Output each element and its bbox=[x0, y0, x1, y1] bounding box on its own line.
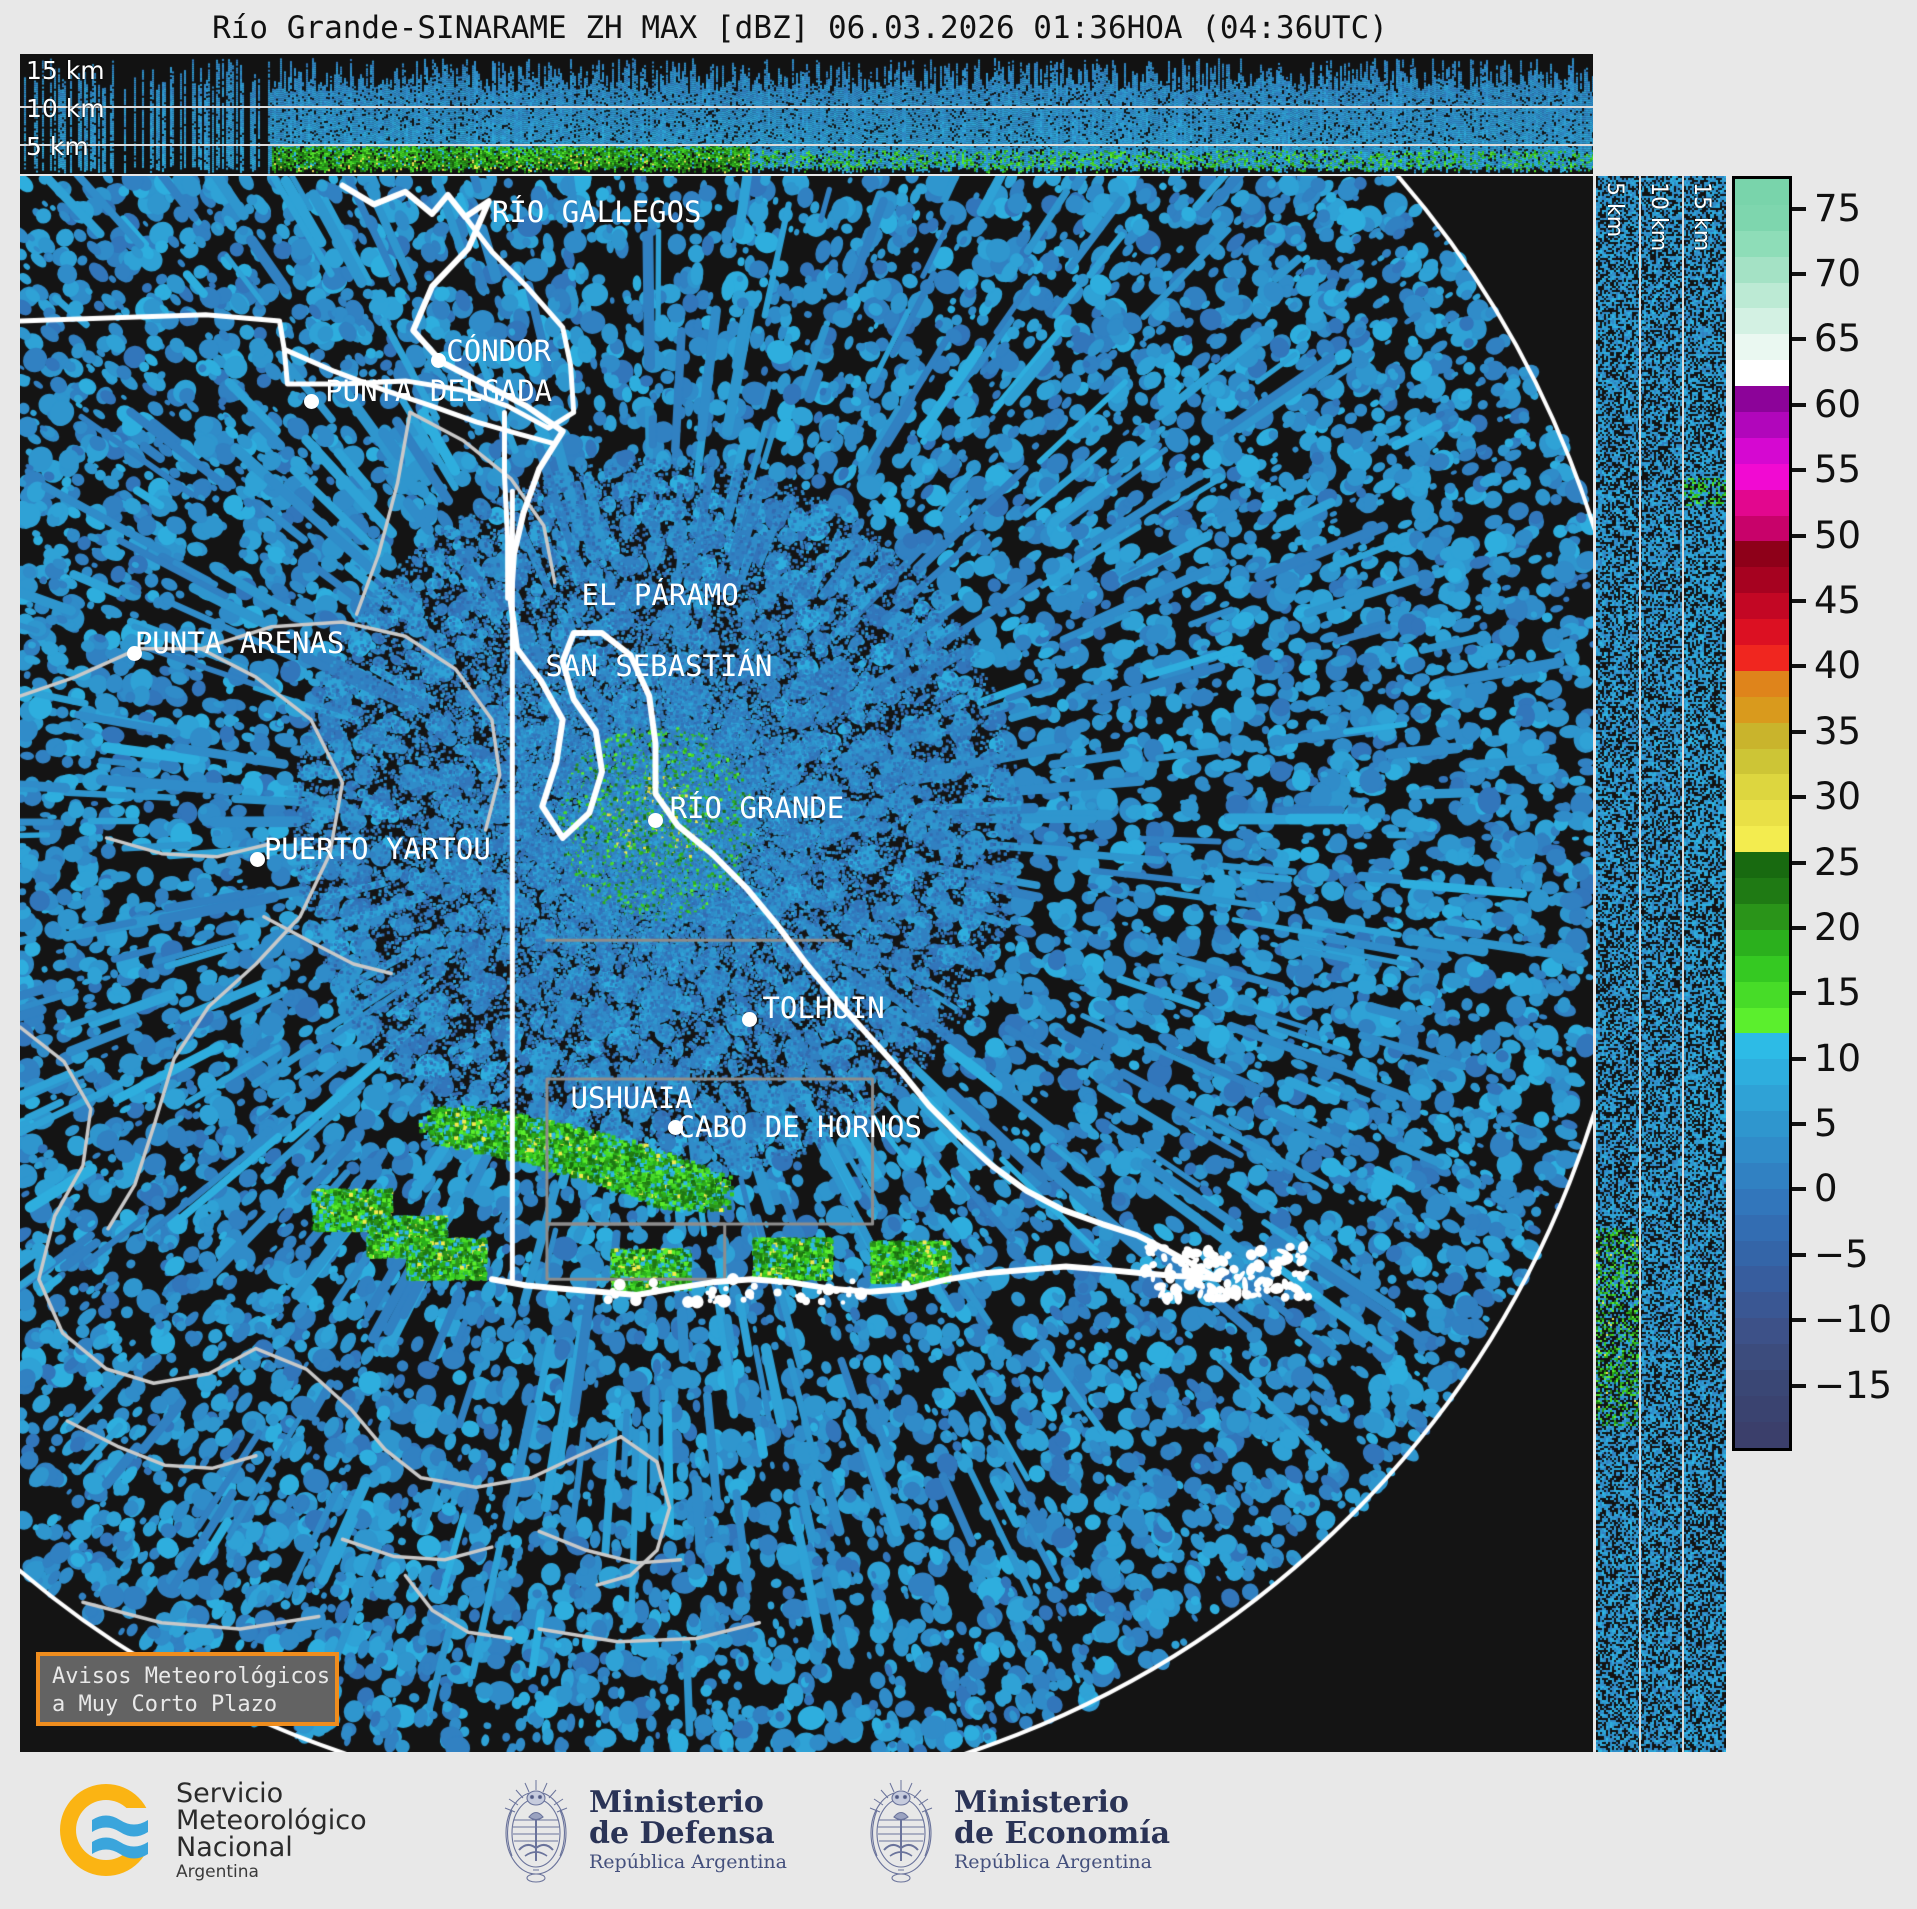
colorbar-band bbox=[1735, 956, 1789, 982]
side-height-label-10km: 10 km bbox=[1646, 182, 1671, 251]
city-label-el-p-ramo: EL PÁRAMO bbox=[582, 579, 739, 611]
colorbar-band bbox=[1735, 1008, 1789, 1034]
colorbar-tick-label: 75 bbox=[1814, 188, 1861, 230]
colorbar-band bbox=[1735, 1422, 1789, 1448]
colorbar-tick-mark bbox=[1792, 599, 1806, 603]
colorbar-tick-label: 70 bbox=[1814, 253, 1861, 295]
radar-reflectivity-canvas[interactable] bbox=[20, 176, 1593, 1752]
height-label-5km: 5 km bbox=[26, 134, 89, 159]
colorbar-band bbox=[1735, 1033, 1789, 1059]
colorbar-tick-label: −10 bbox=[1814, 1299, 1892, 1341]
city-label-c-ndor: CÓNDOR bbox=[446, 335, 551, 367]
colorbar-band bbox=[1735, 982, 1789, 1008]
colorbar-band bbox=[1735, 283, 1789, 309]
colorbar-band bbox=[1735, 179, 1789, 205]
colorbar-band bbox=[1735, 645, 1789, 671]
colorbar-tick-label: 65 bbox=[1814, 318, 1861, 360]
city-label-r-o-gallegos: RÍO GALLEGOS bbox=[492, 196, 702, 228]
colorbar-band bbox=[1735, 697, 1789, 723]
colorbar-tick-label: 10 bbox=[1814, 1038, 1861, 1080]
colorbar-band bbox=[1735, 205, 1789, 231]
warning-line-2: a Muy Corto Plazo bbox=[52, 1691, 335, 1719]
colorbar-band bbox=[1735, 412, 1789, 438]
colorbar-band bbox=[1735, 1241, 1789, 1267]
city-label-punta-delgada: PUNTA DELGADA bbox=[325, 375, 552, 407]
colorbar-band bbox=[1735, 1085, 1789, 1111]
colorbar-band bbox=[1735, 1266, 1789, 1292]
defensa-line-2: de Defensa bbox=[589, 1818, 787, 1849]
economia-line-3: República Argentina bbox=[954, 1853, 1170, 1873]
height-label-15km: 15 km bbox=[26, 58, 105, 83]
colorbar-tick-mark bbox=[1792, 1384, 1806, 1388]
colorbar-tick-mark bbox=[1792, 926, 1806, 930]
warning-line-1: Avisos Meteorológicos bbox=[52, 1663, 335, 1691]
colorbar-tick-label: 60 bbox=[1814, 384, 1861, 426]
colorbar-band bbox=[1735, 541, 1789, 567]
colorbar-band bbox=[1735, 826, 1789, 852]
colorbar-tick-mark bbox=[1792, 1122, 1806, 1126]
height-gridline-5km bbox=[20, 144, 1593, 146]
argentina-coat-of-arms-icon bbox=[860, 1770, 942, 1890]
city-label-punta-arenas: PUNTA ARENAS bbox=[135, 627, 345, 659]
range-gridline-b bbox=[1682, 176, 1684, 1752]
height-label-10km: 10 km bbox=[26, 96, 105, 121]
colorbar-tick-label: 5 bbox=[1814, 1103, 1838, 1145]
range-gridline-a bbox=[1639, 176, 1641, 1752]
side-cross-section-panel: 5 km 10 km 15 km bbox=[1596, 176, 1726, 1752]
colorbar-tick-mark bbox=[1792, 272, 1806, 276]
colorbar-band bbox=[1735, 1396, 1789, 1422]
colorbar-band bbox=[1735, 1111, 1789, 1137]
colorbar-tick-label: 15 bbox=[1814, 972, 1861, 1014]
colorbar-tick-labels: −15−10−5051015202530354045505560657075 bbox=[1792, 176, 1912, 1451]
top-cross-section-panel: 15 km 10 km 5 km bbox=[20, 54, 1593, 174]
colorbar-band bbox=[1735, 231, 1789, 257]
smn-line-3: Nacional bbox=[176, 1834, 367, 1861]
logo-servicio-meteorologico-nacional: Servicio Meteorológico Nacional Argentin… bbox=[50, 1774, 367, 1886]
argentina-coat-of-arms-icon bbox=[495, 1770, 577, 1890]
colorbar-band bbox=[1735, 749, 1789, 775]
colorbar-band bbox=[1735, 1163, 1789, 1189]
colorbar-band bbox=[1735, 671, 1789, 697]
colorbar-band bbox=[1735, 723, 1789, 749]
colorbar-tick-mark bbox=[1792, 1187, 1806, 1191]
city-label-san-sebasti-n: SAN SEBASTIÁN bbox=[545, 650, 772, 682]
smn-line-1: Servicio bbox=[176, 1780, 367, 1807]
city-label-cabo-de-hornos: CABO DE HORNOS bbox=[678, 1111, 922, 1143]
colorbar-band bbox=[1735, 567, 1789, 593]
colorbar-band bbox=[1735, 1318, 1789, 1344]
colorbar-tick-label: −15 bbox=[1814, 1365, 1892, 1407]
footer-logos: Servicio Meteorológico Nacional Argentin… bbox=[0, 1760, 1917, 1909]
colorbar-tick-mark bbox=[1792, 664, 1806, 668]
side-cross-section-canvas bbox=[1596, 176, 1726, 1752]
smn-line-2: Meteorológico bbox=[176, 1807, 367, 1834]
colorbar-band bbox=[1735, 1137, 1789, 1163]
colorbar-tick-label: 50 bbox=[1814, 515, 1861, 557]
colorbar-band bbox=[1735, 308, 1789, 334]
colorbar-tick-label: 35 bbox=[1814, 711, 1861, 753]
colorbar-tick-mark bbox=[1792, 207, 1806, 211]
colorbar-tick-mark bbox=[1792, 991, 1806, 995]
city-marker-dot[interactable] bbox=[742, 1012, 757, 1027]
city-marker-dot[interactable] bbox=[304, 394, 319, 409]
colorbar-band bbox=[1735, 1370, 1789, 1396]
colorbar-tick-mark bbox=[1792, 337, 1806, 341]
defensa-line-3: República Argentina bbox=[589, 1853, 787, 1873]
colorbar-tick-label: 20 bbox=[1814, 907, 1861, 949]
smn-emblem-icon bbox=[50, 1774, 162, 1886]
colorbar-tick-label: 55 bbox=[1814, 449, 1861, 491]
colorbar-tick-mark bbox=[1792, 468, 1806, 472]
city-label-r-o-grande: RÍO GRANDE bbox=[670, 792, 845, 824]
city-label-ushuaia: USHUAIA bbox=[571, 1082, 693, 1114]
defensa-line-1: Ministerio bbox=[589, 1787, 787, 1818]
colorbar-band bbox=[1735, 619, 1789, 645]
colorbar-tick-label: 0 bbox=[1814, 1168, 1838, 1210]
height-gridline-10km bbox=[20, 106, 1593, 108]
colorbar-band bbox=[1735, 878, 1789, 904]
city-label-tolhuin: TOLHUIN bbox=[762, 992, 884, 1024]
city-label-puerto-yartou: PUERTO YARTOU bbox=[264, 833, 491, 865]
colorbar-tick-mark bbox=[1792, 1057, 1806, 1061]
colorbar-band bbox=[1735, 334, 1789, 360]
radar-ppi-map[interactable]: RÍO GALLEGOSCÓNDORPUNTA DELGADAEL PÁRAMO… bbox=[20, 176, 1593, 1752]
colorbar-band bbox=[1735, 464, 1789, 490]
colorbar-tick-label: 40 bbox=[1814, 645, 1861, 687]
colorbar-gradient bbox=[1732, 176, 1792, 1451]
colorbar-tick-label: 25 bbox=[1814, 842, 1861, 884]
colorbar-tick-mark bbox=[1792, 861, 1806, 865]
logo-ministerio-de-economia: Ministerio de Economía República Argenti… bbox=[860, 1770, 1170, 1890]
smn-line-4: Argentina bbox=[176, 1864, 367, 1881]
city-marker-dot[interactable] bbox=[648, 813, 663, 828]
side-height-label-15km: 15 km bbox=[1689, 182, 1714, 251]
city-marker-dot[interactable] bbox=[431, 353, 446, 368]
colorbar-tick-mark bbox=[1792, 1253, 1806, 1257]
colorbar-band bbox=[1735, 1344, 1789, 1370]
colorbar-tick-label: 45 bbox=[1814, 580, 1861, 622]
colorbar-band bbox=[1735, 593, 1789, 619]
colorbar-band bbox=[1735, 490, 1789, 516]
colorbar bbox=[1732, 176, 1792, 1451]
economia-line-1: Ministerio bbox=[954, 1787, 1170, 1818]
colorbar-band bbox=[1735, 1059, 1789, 1085]
colorbar-band bbox=[1735, 800, 1789, 826]
colorbar-band bbox=[1735, 1189, 1789, 1215]
colorbar-tick-mark bbox=[1792, 795, 1806, 799]
colorbar-tick-mark bbox=[1792, 403, 1806, 407]
side-height-label-5km: 5 km bbox=[1602, 182, 1627, 237]
colorbar-band bbox=[1735, 774, 1789, 800]
colorbar-band bbox=[1735, 386, 1789, 412]
colorbar-tick-label: 30 bbox=[1814, 776, 1861, 818]
colorbar-band bbox=[1735, 360, 1789, 386]
colorbar-band bbox=[1735, 257, 1789, 283]
top-cross-section-canvas bbox=[20, 54, 1593, 174]
colorbar-tick-mark bbox=[1792, 1318, 1806, 1322]
colorbar-band bbox=[1735, 904, 1789, 930]
economia-line-2: de Economía bbox=[954, 1818, 1170, 1849]
colorbar-band bbox=[1735, 1215, 1789, 1241]
page-title: Río Grande-SINARAME ZH MAX [dBZ] 06.03.2… bbox=[0, 6, 1600, 50]
colorbar-band bbox=[1735, 516, 1789, 542]
colorbar-band bbox=[1735, 930, 1789, 956]
colorbar-tick-mark bbox=[1792, 534, 1806, 538]
colorbar-band bbox=[1735, 1292, 1789, 1318]
colorbar-tick-mark bbox=[1792, 730, 1806, 734]
logo-ministerio-de-defensa: Ministerio de Defensa República Argentin… bbox=[495, 1770, 787, 1890]
colorbar-band bbox=[1735, 438, 1789, 464]
colorbar-tick-label: −5 bbox=[1814, 1234, 1869, 1276]
warning-banner[interactable]: Avisos Meteorológicos a Muy Corto Plazo bbox=[36, 1652, 339, 1726]
colorbar-band bbox=[1735, 852, 1789, 878]
